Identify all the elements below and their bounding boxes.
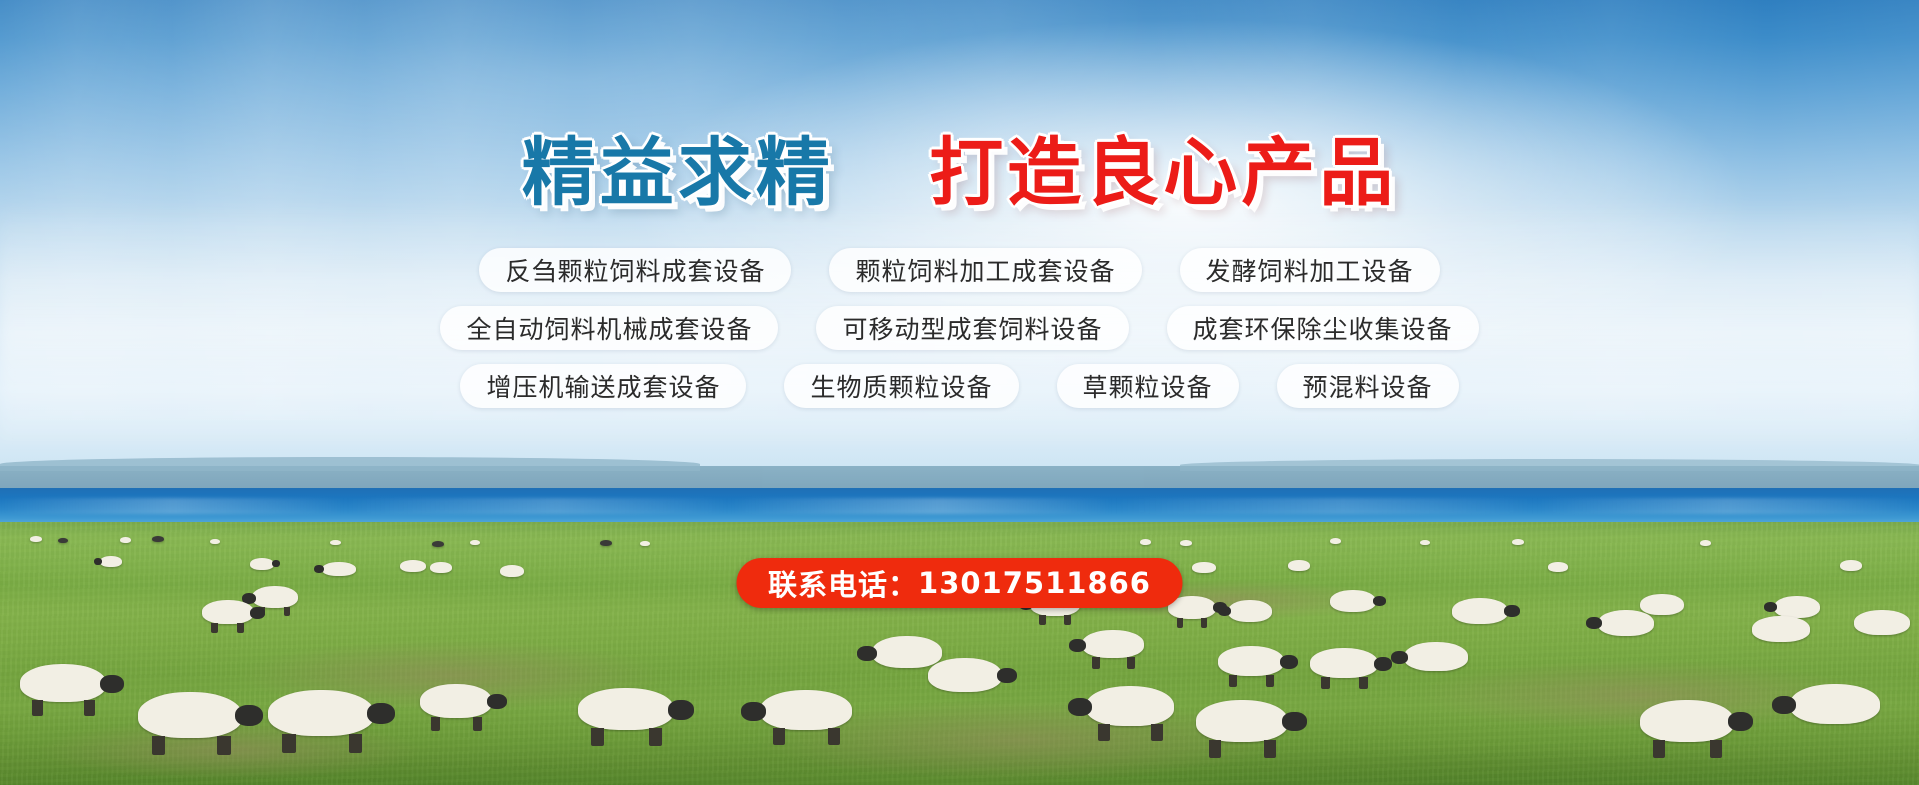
- contact-label: 联系电话：: [768, 562, 918, 604]
- category-pill-pellet-feed-processing[interactable]: 颗粒饲料加工成套设备: [829, 248, 1141, 292]
- sheep: [1086, 686, 1174, 726]
- sheep-leg: [1229, 675, 1238, 688]
- category-pill-mobile-feed-equipment[interactable]: 可移动型成套饲料设备: [816, 306, 1128, 350]
- sheep: [600, 540, 612, 546]
- sheep: [1790, 684, 1880, 724]
- sheep-leg: [1092, 657, 1100, 669]
- sheep-leg: [473, 717, 482, 731]
- contact-phone-number: 13017511866: [918, 566, 1151, 600]
- category-row-2: 全自动饲料机械成套设备 可移动型成套饲料设备 成套环保除尘收集设备: [0, 306, 1919, 350]
- sheep: [432, 541, 444, 547]
- sheep-leg: [1177, 618, 1183, 628]
- sheep: [1420, 540, 1430, 545]
- sheep-leg: [1039, 615, 1046, 625]
- category-row-3: 增压机输送成套设备 生物质颗粒设备 草颗粒设备 预混料设备: [0, 364, 1919, 408]
- sheep: [1404, 642, 1468, 671]
- sheep: [760, 690, 852, 730]
- sheep-head: [1391, 651, 1408, 664]
- sheep: [1140, 539, 1151, 545]
- sheep: [20, 664, 106, 702]
- sheep: [1196, 700, 1288, 742]
- sheep: [420, 684, 492, 718]
- sheep-head: [487, 694, 507, 709]
- sheep-leg: [828, 728, 840, 745]
- sheep-head: [1069, 639, 1086, 652]
- sheep: [872, 636, 942, 668]
- category-pill-automatic-feed-machinery[interactable]: 全自动饲料机械成套设备: [440, 306, 778, 350]
- sheep-head: [1728, 712, 1753, 731]
- sheep-leg: [349, 734, 363, 753]
- lake-shimmer: [0, 498, 1919, 514]
- sheep-head: [250, 607, 265, 619]
- hero-banner: 精益求精 打造良心产品 反刍颗粒饲料成套设备 颗粒饲料加工成套设备 发酵饲料加工…: [0, 0, 1919, 785]
- category-pill-booster-conveying-equipment[interactable]: 增压机输送成套设备: [460, 364, 746, 408]
- category-pill-ruminant-pellet-feed[interactable]: 反刍颗粒饲料成套设备: [479, 248, 791, 292]
- sheep: [1310, 648, 1378, 678]
- category-pill-groups: 反刍颗粒饲料成套设备 颗粒饲料加工成套设备 发酵饲料加工设备 全自动饲料机械成套…: [0, 248, 1919, 422]
- sheep: [210, 539, 220, 544]
- sheep-head: [1373, 596, 1386, 606]
- sheep-leg: [431, 717, 440, 731]
- sheep-head: [367, 703, 395, 724]
- category-pill-premix-equipment[interactable]: 预混料设备: [1277, 364, 1459, 408]
- sheep-leg: [282, 734, 296, 753]
- sheep-leg: [32, 700, 43, 716]
- sheep: [1330, 538, 1341, 544]
- sheep-head: [997, 668, 1017, 683]
- headline-blue: 精益求精: [522, 130, 834, 216]
- sheep-leg: [1359, 677, 1368, 690]
- sheep: [152, 536, 164, 542]
- sheep-head: [741, 702, 766, 721]
- sheep-leg: [217, 736, 231, 755]
- sheep: [430, 562, 452, 573]
- sheep-head: [1282, 712, 1307, 731]
- sheep-leg: [1653, 740, 1665, 758]
- sheep: [1228, 600, 1272, 622]
- sheep: [1288, 560, 1310, 571]
- sheep: [100, 556, 122, 567]
- page-title: 精益求精 打造良心产品: [0, 136, 1919, 210]
- sheep: [138, 692, 242, 738]
- sheep: [470, 540, 480, 545]
- sheep-leg: [1266, 675, 1275, 688]
- sheep-head: [235, 705, 263, 726]
- sheep-head: [272, 560, 280, 567]
- sheep: [1218, 646, 1284, 676]
- sheep-head: [1772, 696, 1796, 714]
- sheep-head: [1586, 617, 1602, 629]
- sheep-leg: [284, 607, 290, 616]
- sheep-head: [1504, 605, 1520, 617]
- sheep: [1180, 540, 1192, 546]
- sheep: [1598, 610, 1654, 636]
- sheep: [120, 537, 131, 543]
- sheep-leg: [1127, 657, 1135, 669]
- sheep-leg: [649, 728, 661, 746]
- sheep: [500, 565, 524, 577]
- sheep-leg: [1064, 615, 1071, 625]
- category-pill-biomass-pellet-equipment[interactable]: 生物质颗粒设备: [784, 364, 1018, 408]
- sheep: [58, 538, 68, 543]
- sheep-head: [1374, 657, 1392, 671]
- sheep: [1548, 562, 1568, 572]
- sheep: [1330, 590, 1376, 612]
- sheep: [322, 562, 356, 576]
- sheep: [30, 536, 42, 542]
- sheep-head: [668, 700, 694, 720]
- category-pill-grass-pellet-equipment[interactable]: 草颗粒设备: [1057, 364, 1239, 408]
- sheep-leg: [1201, 618, 1207, 628]
- headline-red: 打造良心产品: [929, 130, 1397, 216]
- sheep-head: [1218, 606, 1231, 616]
- sheep: [1700, 540, 1711, 546]
- sheep: [1640, 594, 1684, 615]
- sheep: [400, 560, 426, 572]
- sheep: [252, 586, 298, 608]
- sheep-leg: [1151, 724, 1162, 741]
- sheep: [1840, 560, 1862, 571]
- sheep: [1082, 630, 1144, 658]
- sheep-leg: [591, 728, 603, 746]
- sheep-head: [857, 646, 877, 661]
- sheep: [1452, 598, 1508, 624]
- sheep-head: [1068, 698, 1092, 716]
- sheep: [1640, 700, 1734, 742]
- sheep-head: [1764, 602, 1777, 612]
- sheep: [1512, 539, 1524, 545]
- sheep-leg: [1710, 740, 1722, 758]
- sheep-leg: [1321, 677, 1330, 690]
- sheep-leg: [84, 700, 95, 716]
- sheep-head: [1280, 655, 1298, 669]
- sheep: [1752, 616, 1810, 642]
- sheep-head: [314, 565, 324, 573]
- sheep: [640, 541, 650, 546]
- sheep-leg: [152, 736, 166, 755]
- sheep: [330, 540, 341, 545]
- sheep-leg: [1209, 740, 1221, 758]
- sheep-leg: [1098, 724, 1109, 741]
- sheep: [202, 600, 254, 624]
- category-row-1: 反刍颗粒饲料成套设备 颗粒饲料加工成套设备 发酵饲料加工设备: [0, 248, 1919, 292]
- sheep: [250, 558, 274, 570]
- sheep-head: [94, 558, 102, 565]
- category-pill-fermented-feed-processing[interactable]: 发酵饲料加工设备: [1180, 248, 1440, 292]
- sheep-leg: [773, 728, 785, 745]
- sheep-leg: [211, 623, 218, 633]
- sheep: [268, 690, 374, 736]
- sheep: [578, 688, 674, 730]
- contact-phone-badge[interactable]: 联系电话：13017511866: [736, 558, 1183, 608]
- sheep: [1854, 610, 1910, 635]
- sheep-leg: [1264, 740, 1276, 758]
- sheep-leg: [237, 623, 244, 633]
- sheep: [1774, 596, 1820, 618]
- sheep-head: [100, 675, 124, 693]
- sheep: [928, 658, 1002, 692]
- sheep: [1192, 562, 1216, 573]
- category-pill-dust-collection-equipment[interactable]: 成套环保除尘收集设备: [1167, 306, 1479, 350]
